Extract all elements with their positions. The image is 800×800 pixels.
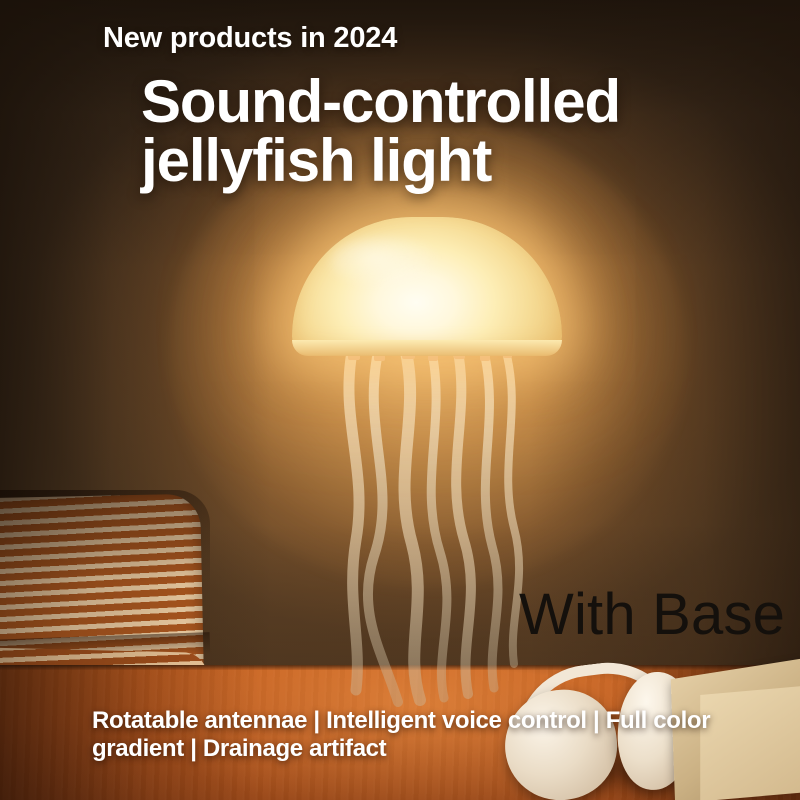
page-title: Sound-controlled jellyfish light	[141, 72, 741, 191]
lamp-dome-rim	[292, 340, 562, 356]
headline-line-1: Sound-controlled	[141, 68, 620, 135]
lamp-dome	[292, 217, 562, 355]
headline-line-2: jellyfish light	[141, 131, 741, 190]
eyebrow-text: New products in 2024	[103, 22, 397, 55]
feature-caption: Rotatable antennae | Intelligent voice c…	[92, 707, 752, 763]
with-base-badge: With Base	[519, 581, 785, 648]
product-poster: New products in 2024 Sound-controlled je…	[0, 0, 800, 800]
